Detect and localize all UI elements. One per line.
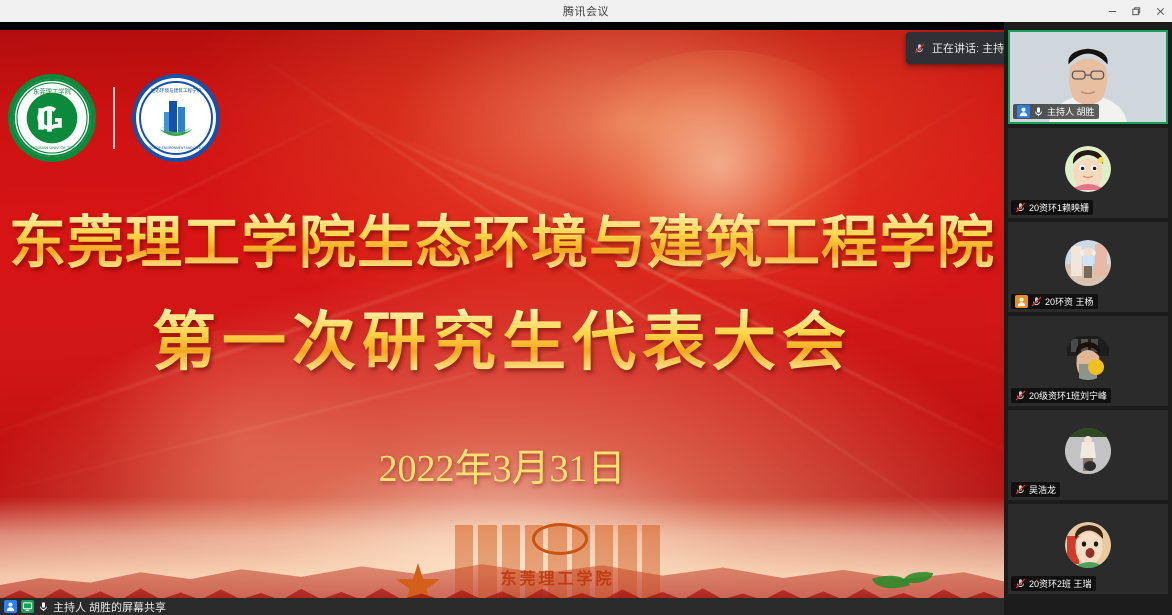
title-bar: 腾讯会议 xyxy=(0,0,1172,23)
mic-muted-icon xyxy=(1015,484,1026,495)
avatar xyxy=(1065,146,1111,192)
participant-strip[interactable]: 主持人 胡胜 xyxy=(1004,22,1172,615)
minimize-button[interactable] xyxy=(1100,0,1124,22)
participant-name-bar: 20级资环1班刘宁峰 xyxy=(1011,388,1111,403)
participant-name: 20环资 王杨 xyxy=(1045,295,1094,308)
avatar-image xyxy=(1065,522,1111,568)
avatar-image xyxy=(1065,146,1111,192)
share-status-text: 主持人 胡胜的屏幕共享 xyxy=(53,599,166,615)
shared-screen-stage[interactable]: 东莞理工学院 DONGGUAN UNIV. OF TECH. 生态环境与 xyxy=(0,22,1004,615)
deco-university-name: 东莞理工学院 xyxy=(455,565,660,589)
participant-tile[interactable]: 20环资 王杨 xyxy=(1008,222,1168,312)
participant-tile[interactable]: 吴浩龙 xyxy=(1008,410,1168,500)
participant-name: 20级资环1班刘宁峰 xyxy=(1029,389,1107,402)
mic-icon xyxy=(38,601,49,612)
participant-tile[interactable]: 20资环1赖映姗 xyxy=(1008,128,1168,218)
participant-tile[interactable]: 20资环2班 王瑞 xyxy=(1008,504,1168,594)
share-status-bar: 主持人 胡胜的屏幕共享 xyxy=(0,598,1004,615)
dgut-emblem-icon: 东莞理工学院 DONGGUAN UNIV. OF TECH. xyxy=(15,80,89,156)
avatar xyxy=(1065,334,1111,380)
avatar xyxy=(1065,240,1111,286)
slide-title-line-2: 第一次研究生代表大会 xyxy=(0,305,1004,379)
dgut-logo-inner: 东莞理工学院 DONGGUAN UNIV. OF TECH. xyxy=(13,79,91,157)
dgut-logo: 东莞理工学院 DONGGUAN UNIV. OF TECH. xyxy=(8,74,96,162)
window-controls xyxy=(1100,0,1172,22)
mic-muted-icon xyxy=(1015,578,1026,589)
speaking-toast: 正在讲话: 主持人 胡胜; xyxy=(906,32,1004,64)
slide-date: 2022年3月31日 xyxy=(0,437,1004,492)
window-title: 腾讯会议 xyxy=(563,3,609,19)
restore-button[interactable] xyxy=(1124,0,1148,22)
logo-divider xyxy=(113,87,115,149)
slide-decoration: 东莞理工学院 xyxy=(0,497,1004,607)
avatar xyxy=(1065,522,1111,568)
screen-share-icon xyxy=(21,600,34,613)
logo-ring xyxy=(139,81,213,155)
school-of-environment-logo: 生态环境与建筑工程学院 SCHOOL OF ENVIRONMENT AND CI… xyxy=(132,74,220,162)
speaking-toast-text: 正在讲话: 主持人 胡胜; xyxy=(932,40,1004,56)
participant-name-bar: 主持人 胡胜 xyxy=(1013,104,1099,119)
slide-title-line-1: 东莞理工学院生态环境与建筑工程学院 xyxy=(0,210,1004,276)
light-ray xyxy=(299,90,1004,465)
participant-tile[interactable]: 20级资环1班刘宁峰 xyxy=(1008,316,1168,406)
deco-emblem-icon xyxy=(532,523,588,555)
participant-name: 吴浩龙 xyxy=(1029,483,1056,496)
mic-muted-icon xyxy=(1031,296,1042,307)
mic-muted-icon xyxy=(1015,390,1026,401)
svg-text:DONGGUAN UNIV. OF TECH.: DONGGUAN UNIV. OF TECH. xyxy=(26,145,79,150)
presentation-slide: 东莞理工学院 DONGGUAN UNIV. OF TECH. 生态环境与 xyxy=(0,30,1004,607)
slide-logos: 东莞理工学院 DONGGUAN UNIV. OF TECH. 生态环境与 xyxy=(8,74,220,162)
participant-name: 主持人 胡胜 xyxy=(1047,105,1095,118)
mic-muted-icon xyxy=(1015,202,1026,213)
host-badge-icon xyxy=(1017,105,1030,118)
mic-muted-icon xyxy=(914,43,925,54)
svg-text:东莞理工学院: 东莞理工学院 xyxy=(33,87,72,96)
avatar-image xyxy=(1065,334,1111,380)
participant-name-bar: 20资环2班 王瑞 xyxy=(1011,576,1096,591)
participant-name: 20资环2班 王瑞 xyxy=(1029,577,1092,590)
tencent-meeting-window: 腾讯会议 xyxy=(0,0,1172,615)
avatar xyxy=(1065,428,1111,474)
person-icon xyxy=(4,600,17,613)
avatar-image xyxy=(1065,428,1111,474)
close-button[interactable] xyxy=(1148,0,1172,22)
participant-name-bar: 20环资 王杨 xyxy=(1011,294,1098,309)
avatar-image xyxy=(1065,240,1111,286)
participant-name: 20资环1赖映姗 xyxy=(1029,201,1089,214)
participant-name-bar: 吴浩龙 xyxy=(1011,482,1060,497)
mic-on-icon xyxy=(1033,106,1044,117)
participant-tile[interactable]: 主持人 胡胜 xyxy=(1008,30,1168,124)
participant-name-bar: 20资环1赖映姗 xyxy=(1011,200,1093,215)
cohost-badge-icon xyxy=(1015,295,1028,308)
